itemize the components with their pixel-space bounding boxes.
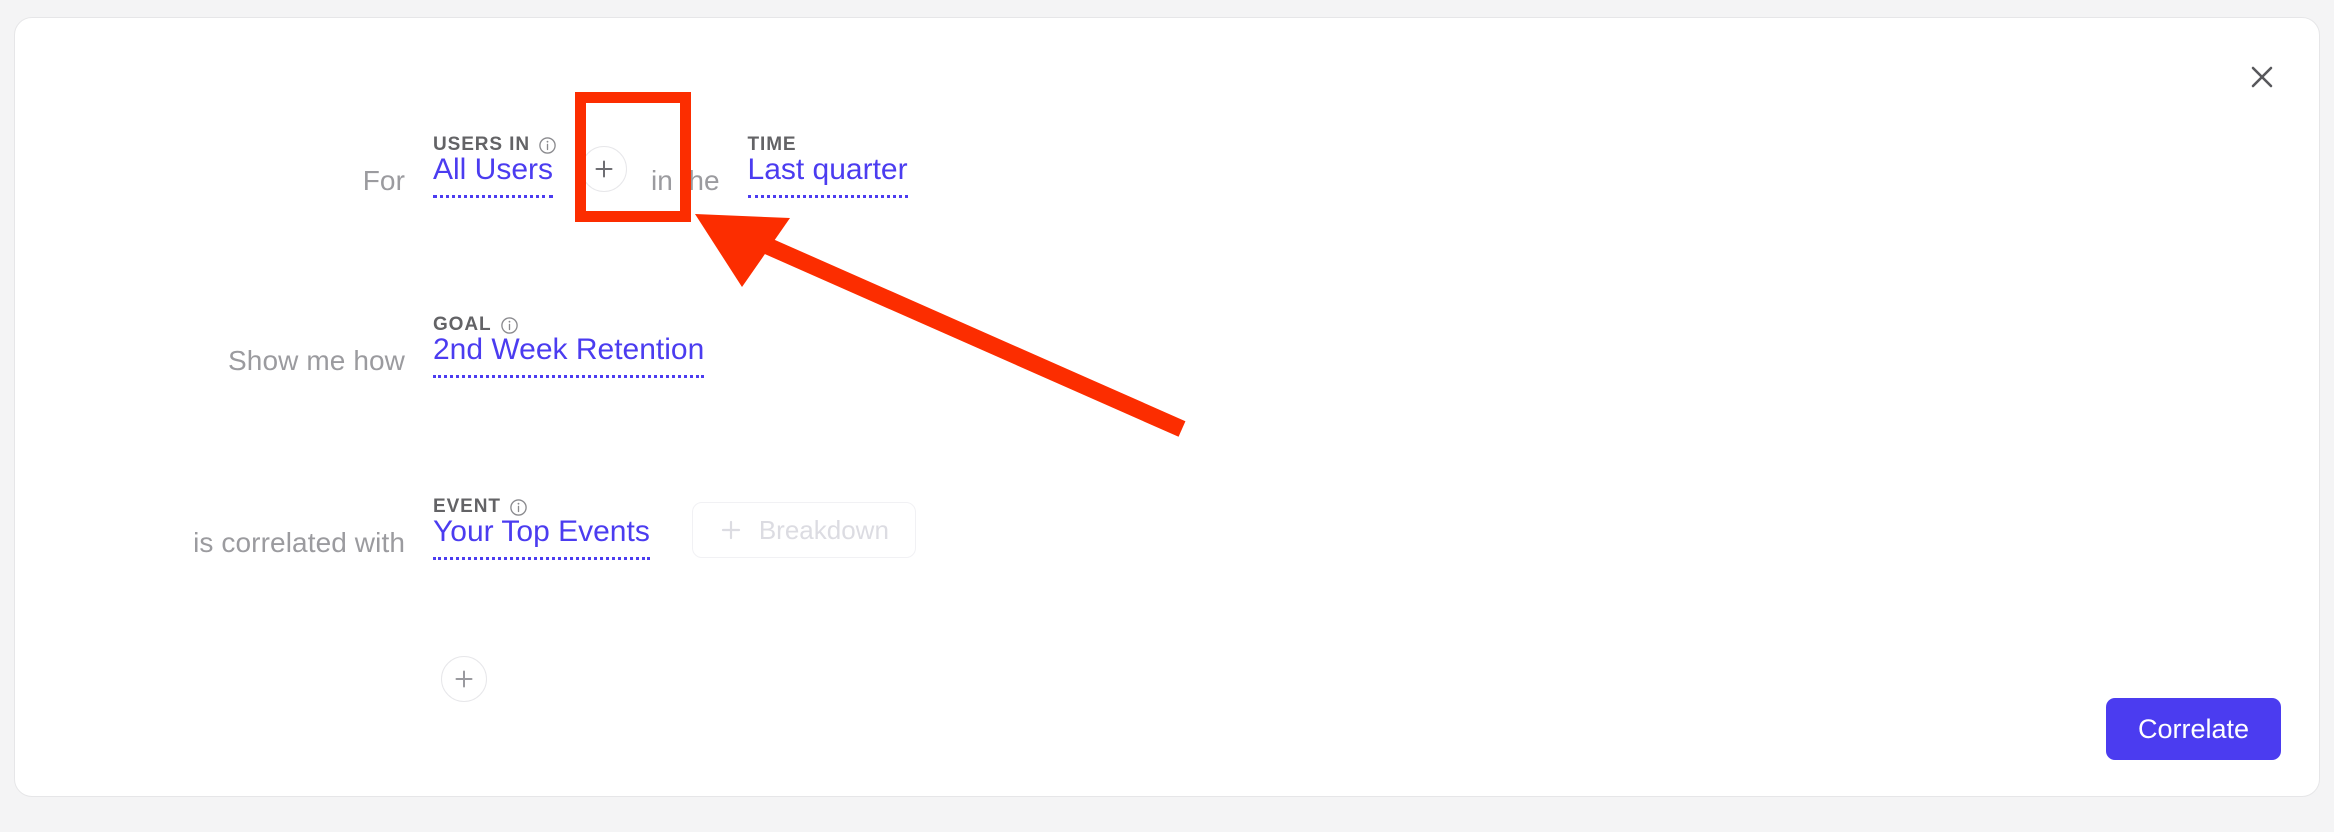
event-label-group: EVENT xyxy=(433,496,528,518)
time-label-group: TIME xyxy=(748,134,797,156)
event-field: EVENT Your Top Events xyxy=(433,514,650,560)
goal-label-group: GOAL xyxy=(433,314,519,336)
row-lead-show-me-how: Show me how xyxy=(15,344,405,378)
correlate-button[interactable]: Correlate xyxy=(2106,698,2281,760)
goal-field: GOAL 2nd Week Retention xyxy=(433,332,704,378)
add-users-filter-button[interactable] xyxy=(581,146,627,192)
event-value[interactable]: Your Top Events xyxy=(433,514,650,560)
query-row-users: For USERS IN All Users xyxy=(15,134,908,198)
row-lead-is-correlated-with: is correlated with xyxy=(15,526,405,560)
correlation-query-card: For USERS IN All Users xyxy=(14,17,2320,797)
users-in-field: USERS IN All Users xyxy=(433,152,553,198)
time-field: TIME Last quarter xyxy=(748,152,908,198)
plus-icon xyxy=(719,518,743,542)
query-row-goal: Show me how GOAL 2nd Week Retention xyxy=(15,314,704,378)
goal-value[interactable]: 2nd Week Retention xyxy=(433,332,704,378)
users-in-label: USERS IN xyxy=(433,134,530,156)
info-icon[interactable] xyxy=(538,136,557,155)
time-label: TIME xyxy=(748,134,797,156)
breakdown-button[interactable]: Breakdown xyxy=(692,502,916,558)
row-lead-for: For xyxy=(15,164,405,198)
breakdown-label: Breakdown xyxy=(759,515,889,546)
event-label: EVENT xyxy=(433,496,501,518)
goal-label: GOAL xyxy=(433,314,492,336)
close-icon[interactable] xyxy=(2241,56,2283,98)
info-icon[interactable] xyxy=(509,498,528,517)
add-query-row-button[interactable] xyxy=(441,656,487,702)
query-row-event: is correlated with EVENT Your Top Event xyxy=(15,496,916,560)
users-in-label-group: USERS IN xyxy=(433,134,557,156)
users-in-value[interactable]: All Users xyxy=(433,152,553,198)
time-value[interactable]: Last quarter xyxy=(748,152,908,198)
screen-root: For USERS IN All Users xyxy=(0,0,2334,832)
row-mid-in-the: in the xyxy=(651,164,720,198)
info-icon[interactable] xyxy=(500,316,519,335)
